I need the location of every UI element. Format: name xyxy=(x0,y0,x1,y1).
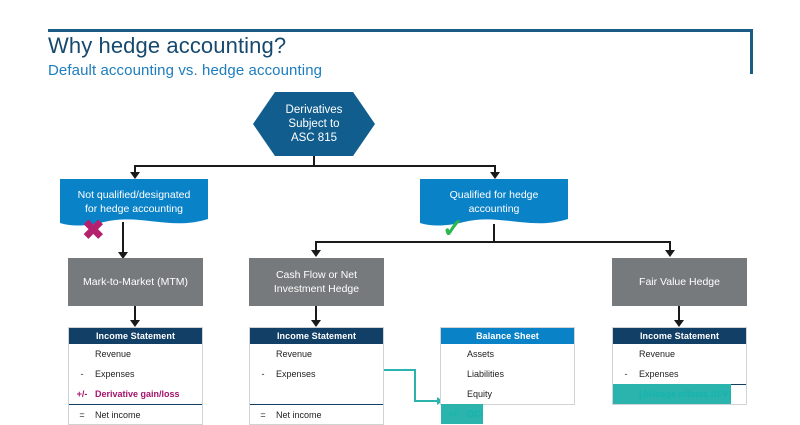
connector-not-qualified-to-mtm xyxy=(122,222,124,254)
slide-canvas: Why hedge accounting? Default accounting… xyxy=(0,0,800,423)
node-derivatives-asc815-label: Derivatives Subject to ASC 815 xyxy=(286,103,343,145)
root-line-2: Subject to xyxy=(286,117,343,131)
table-row: Liabilities xyxy=(441,364,574,384)
row-sign: +/- xyxy=(441,409,467,419)
row-sign: - xyxy=(250,369,276,379)
row-label: (ΔHedge offsets ΔFV) xyxy=(639,389,731,399)
node-mark-to-market-label: Mark-to-Market (MTM) xyxy=(83,275,188,289)
header-rule-top xyxy=(48,29,753,32)
row-label: Net income xyxy=(276,410,383,420)
arrowhead-fair-value-statement xyxy=(674,320,684,327)
teal-connector-segment-1 xyxy=(384,369,416,371)
row-label: Equity xyxy=(467,389,574,399)
table-header-income-statement: Income Statement xyxy=(250,328,383,344)
row-label: Derivative gain/loss xyxy=(95,389,202,399)
row-label: Expenses xyxy=(95,369,202,379)
mtm-line-1: Mark-to-Market (MTM) xyxy=(83,275,188,289)
arrowhead-cash-flow xyxy=(311,250,321,257)
root-line-3: ASC 815 xyxy=(286,131,343,145)
qualified-line-1: Qualified for hedge xyxy=(420,189,568,203)
node-mark-to-market[interactable]: Mark-to-Market (MTM) xyxy=(68,258,203,306)
row-label: OCI xyxy=(467,409,483,419)
node-fair-value-hedge[interactable]: Fair Value Hedge xyxy=(612,258,747,306)
connector-level1-bus xyxy=(135,165,495,167)
row-label: Expenses xyxy=(276,369,383,379)
root-line-1: Derivatives xyxy=(286,103,343,117)
table-row-net-income: = Net income xyxy=(250,404,383,424)
table-row-hedge-offset: (ΔHedge offsets ΔFV) xyxy=(613,384,731,404)
table-row: Assets xyxy=(441,344,574,364)
table-header-income-statement: Income Statement xyxy=(69,328,202,344)
row-label: Liabilities xyxy=(467,369,574,379)
node-not-qualified[interactable]: Not qualified/designated for hedge accou… xyxy=(60,179,208,231)
row-label: Revenue xyxy=(639,349,746,359)
node-derivatives-asc815[interactable]: Derivatives Subject to ASC 815 xyxy=(253,92,375,156)
cash-flow-line-2: Investment Hedge xyxy=(274,282,359,296)
table-row-net-income: = Net income xyxy=(69,404,202,424)
row-label: Assets xyxy=(467,349,574,359)
x-mark-icon: ✖ xyxy=(82,217,105,244)
table-header-balance-sheet: Balance Sheet xyxy=(441,328,574,344)
row-label: Net income xyxy=(95,410,202,420)
table-header-income-statement: Income Statement xyxy=(613,328,746,344)
table-row: Revenue xyxy=(613,344,746,364)
table-balance-sheet[interactable]: Balance Sheet Assets Liabilities Equity … xyxy=(440,327,575,405)
header-rule-right xyxy=(750,29,753,74)
arrowhead-not-qualified xyxy=(130,172,140,179)
check-mark-icon: ✓ xyxy=(442,215,464,241)
arrowhead-cash-flow-statement xyxy=(311,320,321,327)
table-row-oci: +/- OCI xyxy=(441,404,483,424)
teal-connector-segment-3 xyxy=(414,400,438,402)
node-fair-value-hedge-label: Fair Value Hedge xyxy=(639,275,720,289)
connector-level2-bus xyxy=(315,241,671,243)
page-title: Why hedge accounting? xyxy=(48,33,286,59)
arrowhead-qualified xyxy=(490,172,500,179)
fair-value-line-1: Fair Value Hedge xyxy=(639,275,720,289)
row-sign: = xyxy=(250,410,276,420)
table-row-empty xyxy=(250,384,383,404)
connector-qualified-stem xyxy=(493,224,495,242)
teal-connector-segment-2 xyxy=(414,369,416,402)
node-qualified-label: Qualified for hedge accounting xyxy=(420,189,568,216)
arrowhead-mtm-statement xyxy=(130,320,140,327)
page-subtitle: Default accounting vs. hedge accounting xyxy=(48,62,322,79)
row-sign: +/- xyxy=(69,389,95,399)
row-sign: - xyxy=(69,369,95,379)
node-cash-flow-hedge-label: Cash Flow or Net Investment Hedge xyxy=(274,268,359,296)
table-row-derivative-gain-loss: +/- Derivative gain/loss xyxy=(69,384,202,404)
row-label: Revenue xyxy=(276,349,383,359)
table-row: - Expenses xyxy=(613,364,746,384)
table-mtm-income-statement[interactable]: Income Statement Revenue - Expenses +/- … xyxy=(68,327,203,425)
not-qualified-line-1: Not qualified/designated xyxy=(60,189,208,203)
not-qualified-line-2: for hedge accounting xyxy=(60,203,208,217)
table-row: - Expenses xyxy=(250,364,383,384)
row-label: Revenue xyxy=(95,349,202,359)
table-row: Revenue xyxy=(69,344,202,364)
table-fair-value-income-statement[interactable]: Income Statement Revenue - Expenses (ΔHe… xyxy=(612,327,747,405)
table-row: Equity xyxy=(441,384,574,404)
cash-flow-line-1: Cash Flow or Net xyxy=(274,268,359,282)
table-row: Revenue xyxy=(250,344,383,364)
table-row: - Expenses xyxy=(69,364,202,384)
node-cash-flow-hedge[interactable]: Cash Flow or Net Investment Hedge xyxy=(249,258,384,306)
row-sign: - xyxy=(613,369,639,379)
row-sign: = xyxy=(69,410,95,420)
row-label: Expenses xyxy=(639,369,746,379)
arrowhead-fair-value xyxy=(665,250,675,257)
node-not-qualified-label: Not qualified/designated for hedge accou… xyxy=(60,189,208,216)
table-cash-flow-income-statement[interactable]: Income Statement Revenue - Expenses = Ne… xyxy=(249,327,384,425)
